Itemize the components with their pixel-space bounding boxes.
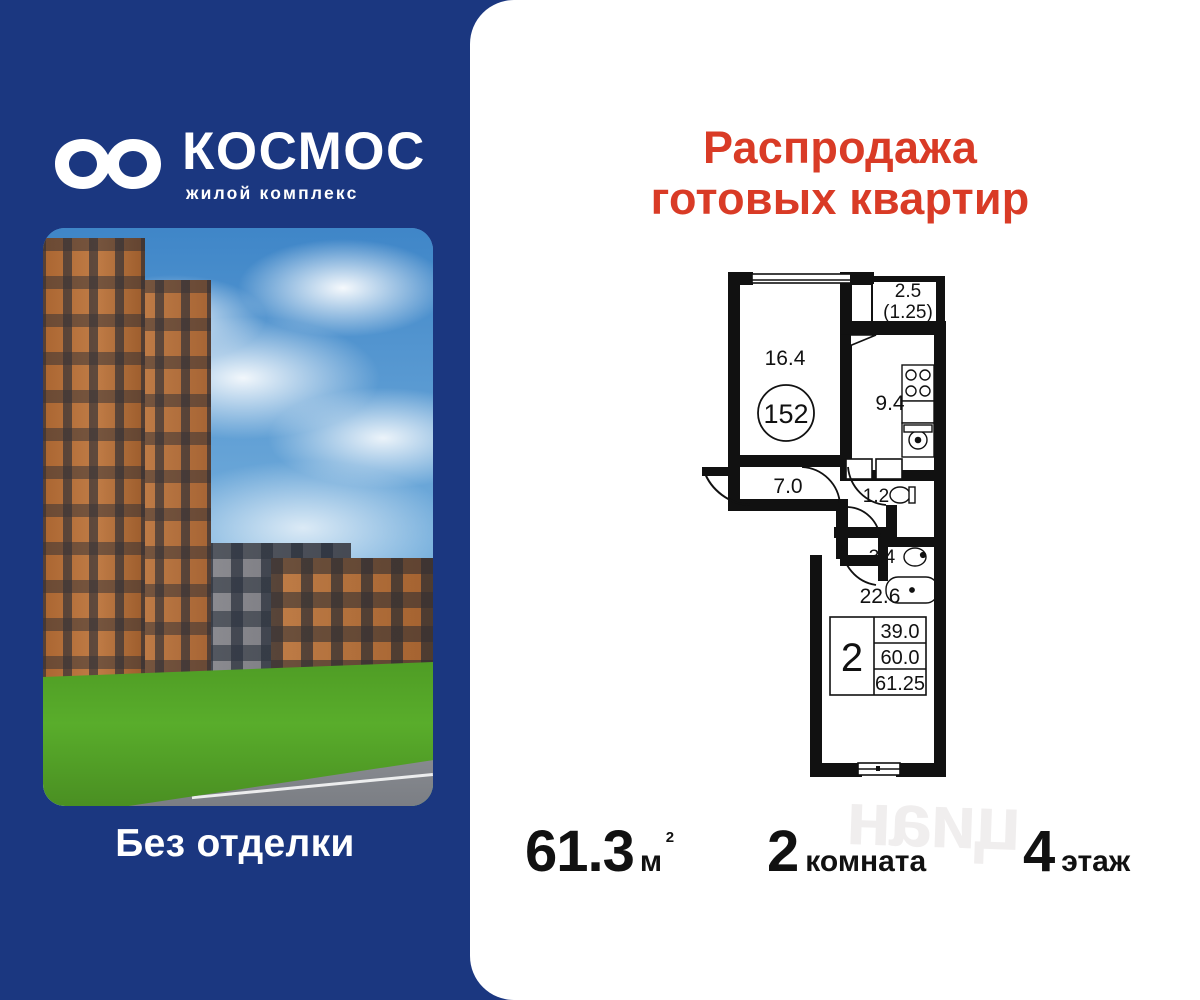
brand-tagline: жилой комплекс	[186, 185, 426, 203]
room-area-living: 16.4	[765, 347, 806, 370]
stat-floor-value: 4	[1023, 818, 1054, 885]
stat-area: 61.3 м2	[525, 818, 662, 885]
summary-area-without-balcony: 60.0	[881, 647, 920, 669]
left-blue-panel: КОСМОС жилой комплекс Без отделки	[0, 0, 470, 1000]
stat-area-unit: м2	[640, 845, 662, 879]
summary-box: 2 39.0 60.0 61.25	[830, 617, 926, 695]
room-area-wc: 1.2	[863, 486, 889, 507]
page-title: Распродажа готовых квартир	[500, 122, 1180, 225]
summary-total-area: 61.25	[875, 673, 925, 695]
stats-row: 61.3 м2 2 комната 4 этаж	[495, 812, 1185, 892]
brand-logo: КОСМОС жилой комплекс	[52, 125, 426, 203]
room-area-bathroom: 3.4	[869, 547, 896, 568]
floorplan: 16.4 2.5 (1.25) 9.4 7.0 1.2 3.4 22.6 152	[690, 255, 990, 795]
headline-line-2: готовых квартир	[500, 173, 1180, 224]
building-photo	[43, 228, 433, 806]
stat-floor-label: этаж	[1061, 845, 1130, 879]
room-area-hall: 7.0	[773, 475, 802, 498]
room-area-second-room: 22.6	[860, 585, 901, 608]
stat-floor: 4 этаж	[1023, 818, 1130, 885]
room-area-balcony-reduced: (1.25)	[883, 302, 933, 323]
apartment-number: 152	[763, 399, 808, 429]
stat-rooms-value: 2	[767, 818, 798, 885]
brand-name: КОСМОС	[182, 125, 426, 178]
room-area-kitchen: 9.4	[875, 392, 905, 415]
stat-area-value: 61.3	[525, 818, 634, 885]
apartment-number-badge: 152	[758, 385, 814, 441]
room-area-balcony: 2.5	[895, 281, 921, 302]
summary-rooms-count: 2	[841, 636, 863, 680]
finishing-caption: Без отделки	[0, 822, 470, 866]
headline-line-1: Распродажа	[500, 122, 1180, 173]
stat-rooms-label: комната	[805, 845, 926, 879]
stat-rooms: 2 комната	[767, 818, 926, 885]
floorplan-drawing: 16.4 2.5 (1.25) 9.4 7.0 1.2 3.4 22.6 152	[690, 255, 990, 795]
infinity-icon	[52, 133, 164, 195]
summary-living-area: 39.0	[881, 621, 920, 643]
